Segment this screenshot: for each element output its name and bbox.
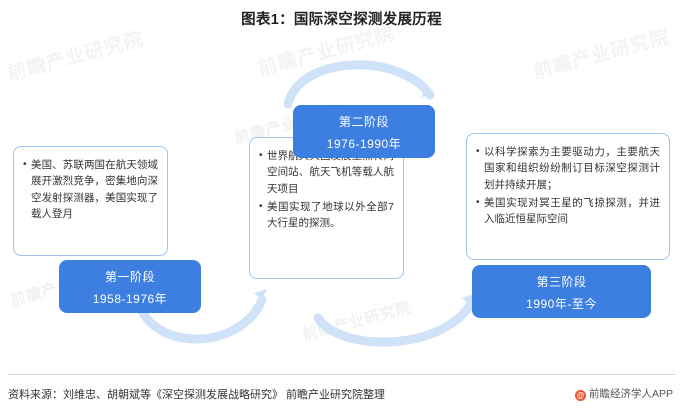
stage-3-bullet-list: 以科学探索为主要驱动力，主要航天国家和组织纷纷制订目标深空探测计划并持续开展； … [476,144,660,227]
stage-1-name: 第一阶段 [59,269,201,286]
source-note: 资料来源：刘维忠、胡朝斌等《深空探测发展战略研究》 前瞻产业研究院整理 [8,386,385,402]
page-title: 图表1：国际深空探测发展历程 [0,8,683,29]
stage-3-name: 第三阶段 [472,274,651,291]
stage-3-content-box: 以科学探索为主要驱动力，主要航天国家和组织纷纷制订目标深空探测计划并持续开展； … [466,133,670,260]
brand-credit: @前瞻经济学人APP [575,386,673,401]
stage-2-name: 第二阶段 [293,114,435,131]
stage-3-label: 第三阶段 1990年-至今 [472,265,651,318]
list-item: 美国实现对冥王星的飞掠探测，并进入临近恒星际空间 [476,195,660,228]
list-item: 美国、苏联两国在航天领域展开激烈竞争，密集地向深空发射探测器，美国实现了载人登月 [23,157,158,222]
infographic-page: 前瞻产业研究院 前瞻产业研究院 前瞻产业研究院 前瞻产业研究院 前瞻产业研究院 … [0,0,683,416]
stage-3-years: 1990年-至今 [472,296,651,313]
stage-2-bullet-list: 世界航天大国发展重点转向空间站、航天飞机等载人航天项目 美国实现了地球以外全部7… [259,148,394,231]
stage-2-label: 第二阶段 1976-1990年 [293,105,435,158]
list-item: 美国实现了地球以外全部7大行星的探测。 [259,199,394,232]
watermark: 前瞻产业研究院 [300,296,414,345]
stage-1-content-box: 美国、苏联两国在航天领域展开激烈竞争，密集地向深空发射探测器，美国实现了载人登月 [13,146,168,256]
watermark: 前瞻产业研究院 [530,22,672,84]
brand-logo-icon: @ [575,390,586,401]
stage-1-years: 1958-1976年 [59,291,201,308]
list-item: 以科学探索为主要驱动力，主要航天国家和组织纷纷制订目标深空探测计划并持续开展； [476,144,660,193]
brand-name: 前瞻经济学人APP [589,388,673,400]
stage-1-bullet-list: 美国、苏联两国在航天领域展开激烈竞争，密集地向深空发射探测器，美国实现了载人登月 [23,157,158,222]
footer-divider [8,374,675,375]
stage-2-years: 1976-1990年 [293,136,435,153]
stage-1-label: 第一阶段 1958-1976年 [59,260,201,313]
watermark: 前瞻产业研究院 [4,24,146,86]
stage-2-content-box: 世界航天大国发展重点转向空间站、航天飞机等载人航天项目 美国实现了地球以外全部7… [249,137,404,279]
